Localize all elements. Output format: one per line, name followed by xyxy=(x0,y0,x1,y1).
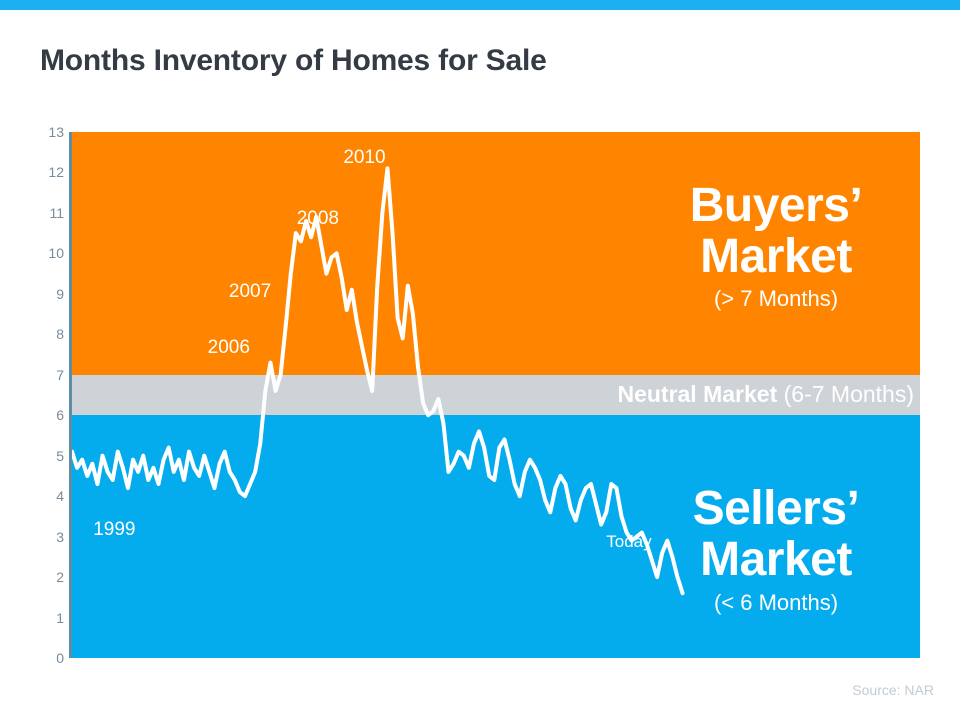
annotation-1999: 1999 xyxy=(93,520,135,539)
y-axis-tick-11: 11 xyxy=(28,206,64,220)
sellers-market-heading-line1: Sellers’ xyxy=(632,484,920,535)
y-axis-tick-9: 9 xyxy=(28,287,64,301)
sellers-market-heading-line2: Market xyxy=(632,535,920,586)
source-note: Source: NAR xyxy=(852,682,934,698)
annotation-2007: 2007 xyxy=(229,282,271,301)
y-axis-tick-10: 10 xyxy=(28,246,64,260)
y-axis-tick-8: 8 xyxy=(28,327,64,341)
buyers-market-subtitle: (> 7 Months) xyxy=(632,282,920,315)
y-axis-tick-12: 12 xyxy=(28,165,64,179)
buyers-market-heading-line1: Buyers’ xyxy=(632,181,920,232)
y-axis-tick-3: 3 xyxy=(28,530,64,544)
neutral-market-label: Neutral Market (6-7 Months) xyxy=(617,383,914,406)
buyers-market-label: Buyers’ Market (> 7 Months) xyxy=(632,181,920,316)
plot-area: 2010 2008 2007 2006 1999 Today Buyers’ M… xyxy=(72,132,920,658)
y-axis-tick-labels: 012345678910111213 xyxy=(20,132,64,658)
annotation-2010: 2010 xyxy=(343,148,385,167)
y-axis-tick-1: 1 xyxy=(28,611,64,625)
chart-container: 012345678910111213 2010 2008 2007 2006 1… xyxy=(0,0,960,720)
neutral-market-heading: Neutral Market xyxy=(617,381,777,407)
sellers-market-subtitle: (< 6 Months) xyxy=(632,586,920,619)
sellers-market-label: Sellers’ Market (< 6 Months) xyxy=(632,484,920,619)
y-axis-tick-5: 5 xyxy=(28,449,64,463)
buyers-market-heading-line2: Market xyxy=(632,232,920,283)
annotation-2008: 2008 xyxy=(297,209,339,228)
y-axis-tick-2: 2 xyxy=(28,570,64,584)
neutral-market-subtitle: (6-7 Months) xyxy=(784,381,914,407)
y-axis-tick-13: 13 xyxy=(28,125,64,139)
annotation-2006: 2006 xyxy=(208,338,250,357)
y-axis-tick-4: 4 xyxy=(28,489,64,503)
y-axis-tick-6: 6 xyxy=(28,408,64,422)
y-axis-tick-7: 7 xyxy=(28,368,64,382)
y-axis-tick-0: 0 xyxy=(28,651,64,665)
